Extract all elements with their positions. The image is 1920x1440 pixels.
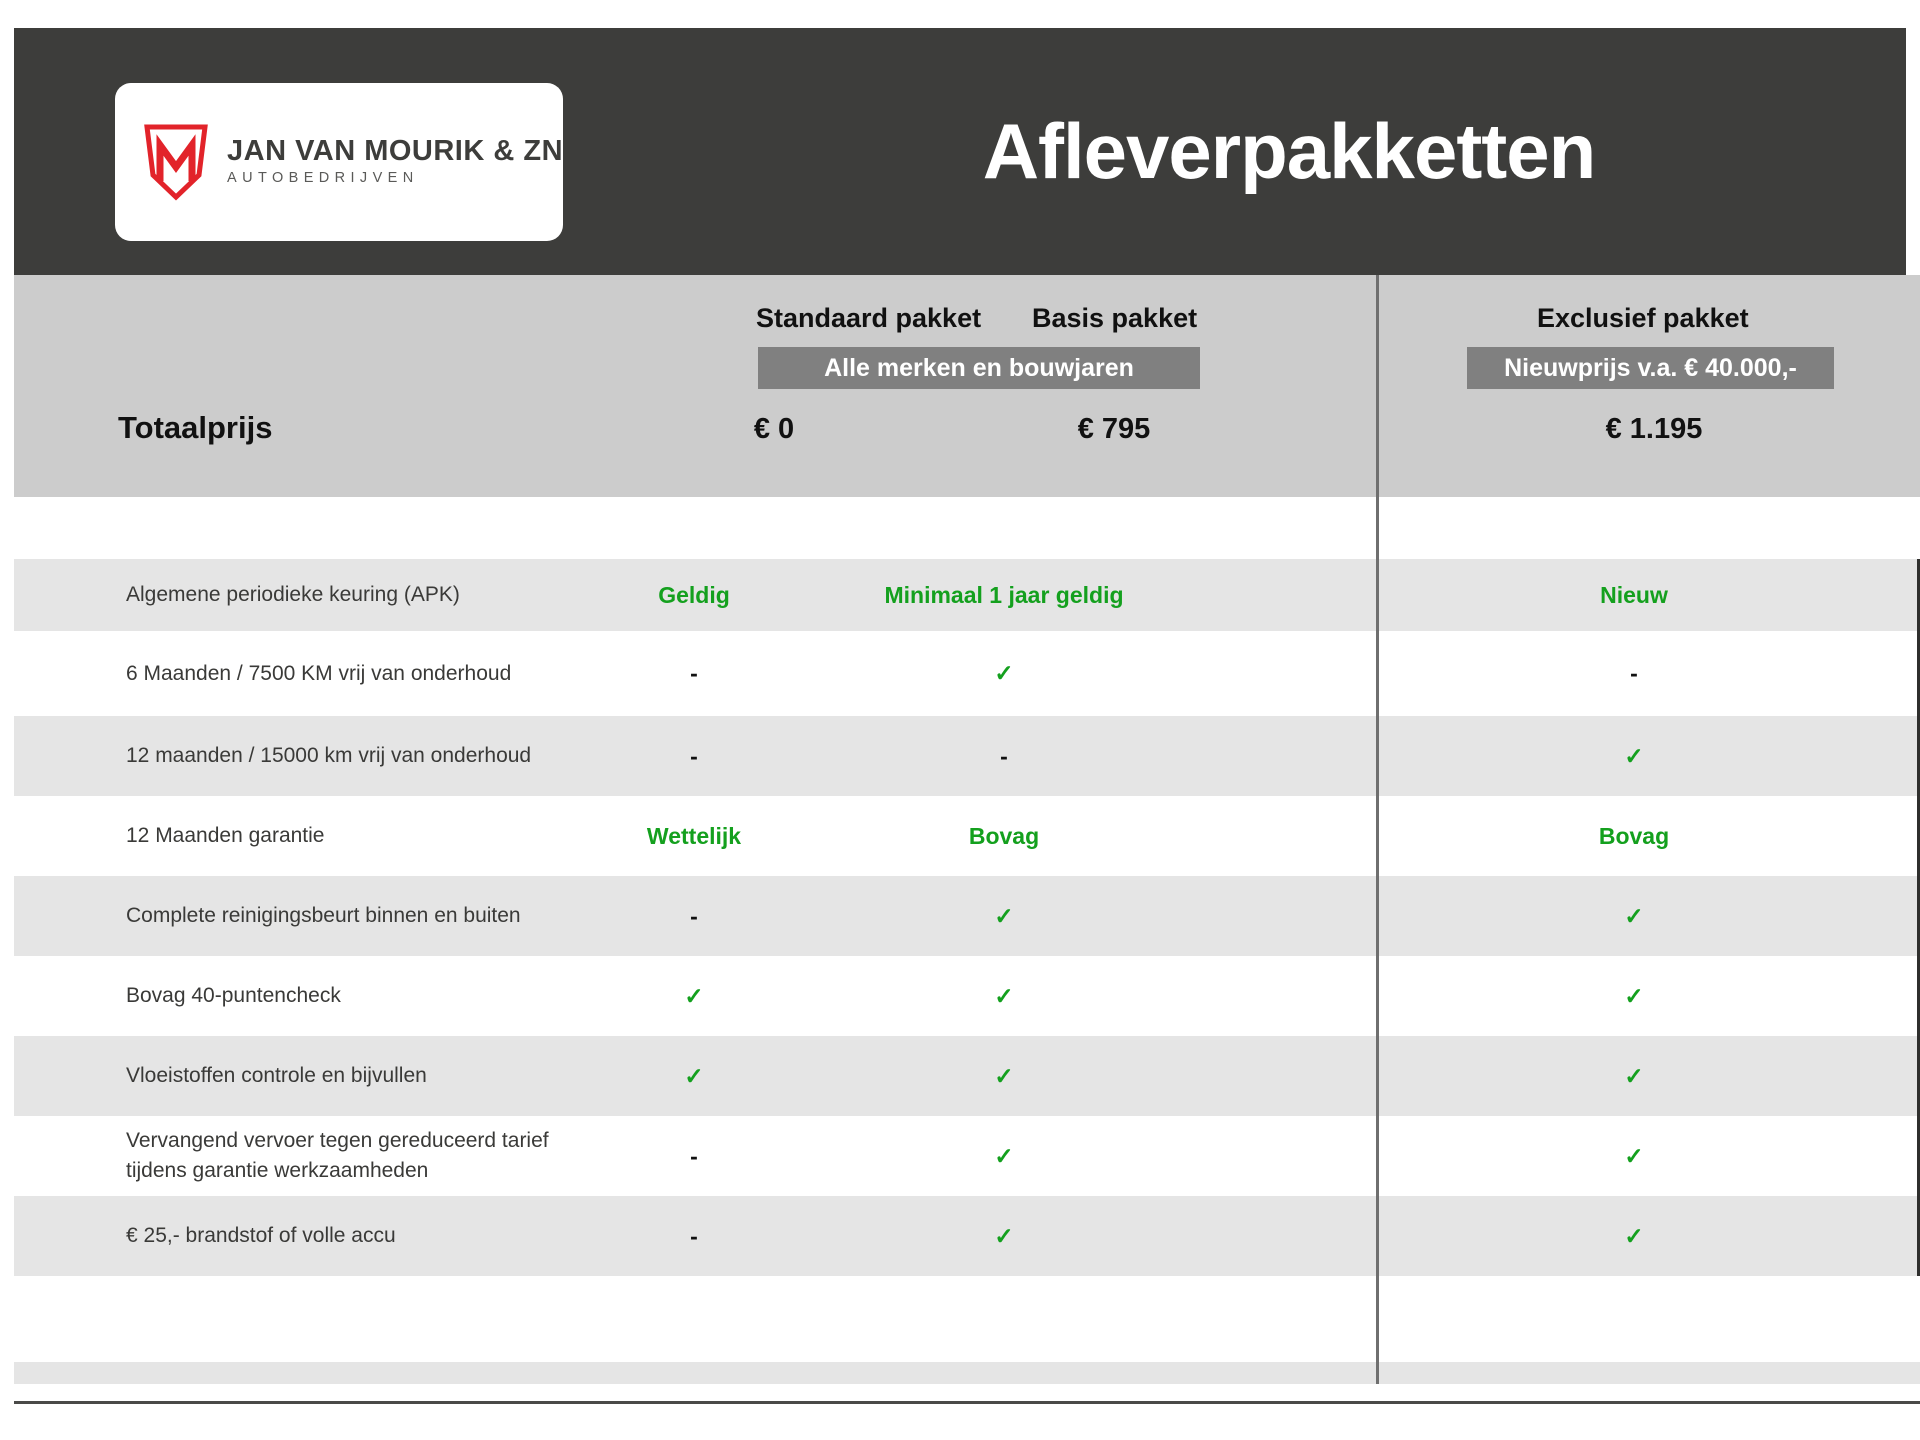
feature-label: 12 Maanden garantie <box>126 821 325 851</box>
table-row: 12 Maanden garantie Wettelijk Bovag Bova… <box>14 796 1920 876</box>
cell-standaard: ✓ <box>594 1063 794 1090</box>
table-footer-strip <box>14 1362 1920 1384</box>
table-row: Algemene periodieke keuring (APK) Geldig… <box>14 559 1920 631</box>
table-row: 6 Maanden / 7500 KM vrij van onderhoud -… <box>14 631 1920 716</box>
logo-company-subtitle: AUTOBEDRIJVEN <box>227 169 563 188</box>
poster-page: JAN VAN MOURIK & ZN AUTOBEDRIJVEN Afleve… <box>0 0 1920 1440</box>
total-price-basis: € 795 <box>1034 413 1194 446</box>
cell-basis: ✓ <box>854 1143 1154 1170</box>
table-column-header: Standaard pakket Basis pakket Exclusief … <box>14 275 1920 497</box>
table-row: € 25,- brandstof of volle accu - ✓ ✓ <box>14 1196 1920 1276</box>
feature-label: Complete reinigingsbeurt binnen en buite… <box>126 901 521 931</box>
total-price-label: Totaalprijs <box>118 410 272 446</box>
cell-basis: Bovag <box>854 823 1154 850</box>
cell-standaard: - <box>594 1223 794 1250</box>
column-divider <box>1376 796 1379 876</box>
cell-basis: - <box>854 743 1154 770</box>
cell-basis: ✓ <box>854 660 1154 687</box>
cell-exclusief: - <box>1534 660 1734 687</box>
package-comparison-table: Standaard pakket Basis pakket Exclusief … <box>14 275 1920 1384</box>
table-bottom-rule <box>14 1401 1920 1404</box>
page-header: JAN VAN MOURIK & ZN AUTOBEDRIJVEN Afleve… <box>14 28 1906 275</box>
feature-label: Bovag 40-puntencheck <box>126 981 341 1011</box>
logo-company-name: JAN VAN MOURIK & ZN <box>227 136 563 166</box>
feature-label: 6 Maanden / 7500 KM vrij van onderhoud <box>126 659 511 689</box>
cell-exclusief: ✓ <box>1534 743 1734 770</box>
feature-label: 12 maanden / 15000 km vrij van onderhoud <box>126 741 531 771</box>
cell-exclusief: Bovag <box>1534 823 1734 850</box>
shield-m-logo-icon <box>143 123 209 201</box>
cell-standaard: - <box>594 903 794 930</box>
cell-standaard: - <box>594 1143 794 1170</box>
column-divider <box>1376 956 1379 1036</box>
logo-text-block: JAN VAN MOURIK & ZN AUTOBEDRIJVEN <box>227 136 563 188</box>
column-divider <box>1376 1276 1379 1362</box>
table-row: Vervangend vervoer tegen gereduceerd tar… <box>14 1116 1920 1196</box>
table-row: Complete reinigingsbeurt binnen en buite… <box>14 876 1920 956</box>
cell-exclusief: ✓ <box>1534 1223 1734 1250</box>
badge-nieuwprijs: Nieuwprijs v.a. € 40.000,- <box>1467 347 1834 389</box>
column-divider <box>1376 497 1379 559</box>
cell-exclusief: ✓ <box>1534 983 1734 1010</box>
feature-label: Vloeistoffen controle en bijvullen <box>126 1061 427 1091</box>
cell-standaard: - <box>594 660 794 687</box>
feature-label: Vervangend vervoer tegen gereduceerd tar… <box>126 1126 549 1187</box>
cell-standaard: ✓ <box>594 983 794 1010</box>
cell-exclusief: ✓ <box>1534 1063 1734 1090</box>
company-logo: JAN VAN MOURIK & ZN AUTOBEDRIJVEN <box>115 83 563 241</box>
total-price-exclusief: € 1.195 <box>1574 413 1734 446</box>
cell-exclusief: ✓ <box>1534 1143 1734 1170</box>
feature-label: € 25,- brandstof of volle accu <box>126 1221 396 1251</box>
table-row: 12 maanden / 15000 km vrij van onderhoud… <box>14 716 1920 796</box>
table-row: Bovag 40-puntencheck ✓ ✓ ✓ <box>14 956 1920 1036</box>
column-divider <box>1376 876 1379 956</box>
feature-label: Algemene periodieke keuring (APK) <box>126 580 460 610</box>
table-spacer-row <box>14 497 1920 559</box>
cell-basis: ✓ <box>854 1223 1154 1250</box>
column-divider <box>1376 1116 1379 1196</box>
column-header-basis: Basis pakket <box>1032 303 1197 334</box>
cell-exclusief: Nieuw <box>1534 582 1734 609</box>
cell-standaard: Geldig <box>594 582 794 609</box>
total-price-standaard: € 0 <box>694 413 854 446</box>
cell-basis: ✓ <box>854 983 1154 1010</box>
column-divider <box>1376 275 1379 497</box>
badge-alle-merken: Alle merken en bouwjaren <box>758 347 1200 389</box>
column-header-standaard: Standaard pakket <box>756 303 981 334</box>
column-divider <box>1376 1036 1379 1116</box>
cell-basis: Minimaal 1 jaar geldig <box>854 582 1154 609</box>
column-divider <box>1376 1362 1379 1384</box>
page-title: Afleverpakketten <box>674 28 1904 275</box>
column-header-exclusief: Exclusief pakket <box>1537 303 1749 334</box>
table-footer-blank <box>14 1276 1920 1362</box>
table-row: Vloeistoffen controle en bijvullen ✓ ✓ ✓ <box>14 1036 1920 1116</box>
column-divider <box>1376 631 1379 716</box>
cell-basis: ✓ <box>854 1063 1154 1090</box>
cell-standaard: - <box>594 743 794 770</box>
column-divider <box>1376 716 1379 796</box>
column-divider <box>1376 1196 1379 1276</box>
cell-exclusief: ✓ <box>1534 903 1734 930</box>
cell-standaard: Wettelijk <box>594 823 794 850</box>
column-divider <box>1376 559 1379 631</box>
cell-basis: ✓ <box>854 903 1154 930</box>
